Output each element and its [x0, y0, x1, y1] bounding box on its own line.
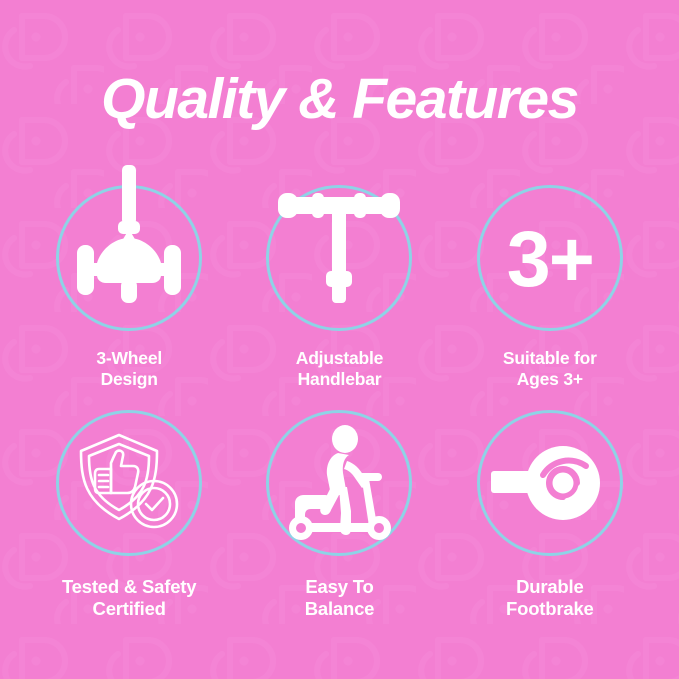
icon-ring — [266, 410, 412, 556]
safety-shield-thumbs-up-icon — [75, 431, 183, 535]
age-rating-icon: 3+ — [507, 219, 593, 298]
rear-footbrake-icon — [491, 435, 609, 531]
quality-features-panel: Quality & Features — [0, 0, 679, 679]
scooter-rider-icon — [281, 425, 397, 541]
adjustable-handlebar-icon — [276, 183, 402, 333]
three-wheel-scooter-deck-icon — [69, 183, 189, 333]
icon-ring — [56, 410, 202, 556]
page-title: Quality & Features — [0, 68, 679, 130]
feature-grid: 3-Wheel Design — [24, 185, 655, 635]
feature-label: Tested & Safety Certified — [62, 576, 196, 620]
icon-ring — [266, 185, 412, 331]
feature-item-adjustable-handlebar[interactable]: Adjustable Handlebar — [234, 185, 444, 410]
feature-label: Adjustable Handlebar — [296, 348, 383, 390]
icon-ring — [56, 185, 202, 331]
feature-item-easy-to-balance[interactable]: Easy To Balance — [234, 410, 444, 635]
feature-label: Durable Footbrake — [506, 576, 594, 620]
feature-label: 3-Wheel Design — [96, 348, 162, 390]
feature-item-3-wheel-design[interactable]: 3-Wheel Design — [24, 185, 234, 410]
icon-ring: 3+ — [477, 185, 623, 331]
feature-label: Suitable for Ages 3+ — [503, 348, 597, 390]
feature-item-age-suitability[interactable]: 3+ Suitable for Ages 3+ — [445, 185, 655, 410]
feature-item-tested-safety-certified[interactable]: Tested & Safety Certified — [24, 410, 234, 635]
feature-item-durable-footbrake[interactable]: Durable Footbrake — [445, 410, 655, 635]
feature-label: Easy To Balance — [305, 576, 375, 620]
icon-ring — [477, 410, 623, 556]
